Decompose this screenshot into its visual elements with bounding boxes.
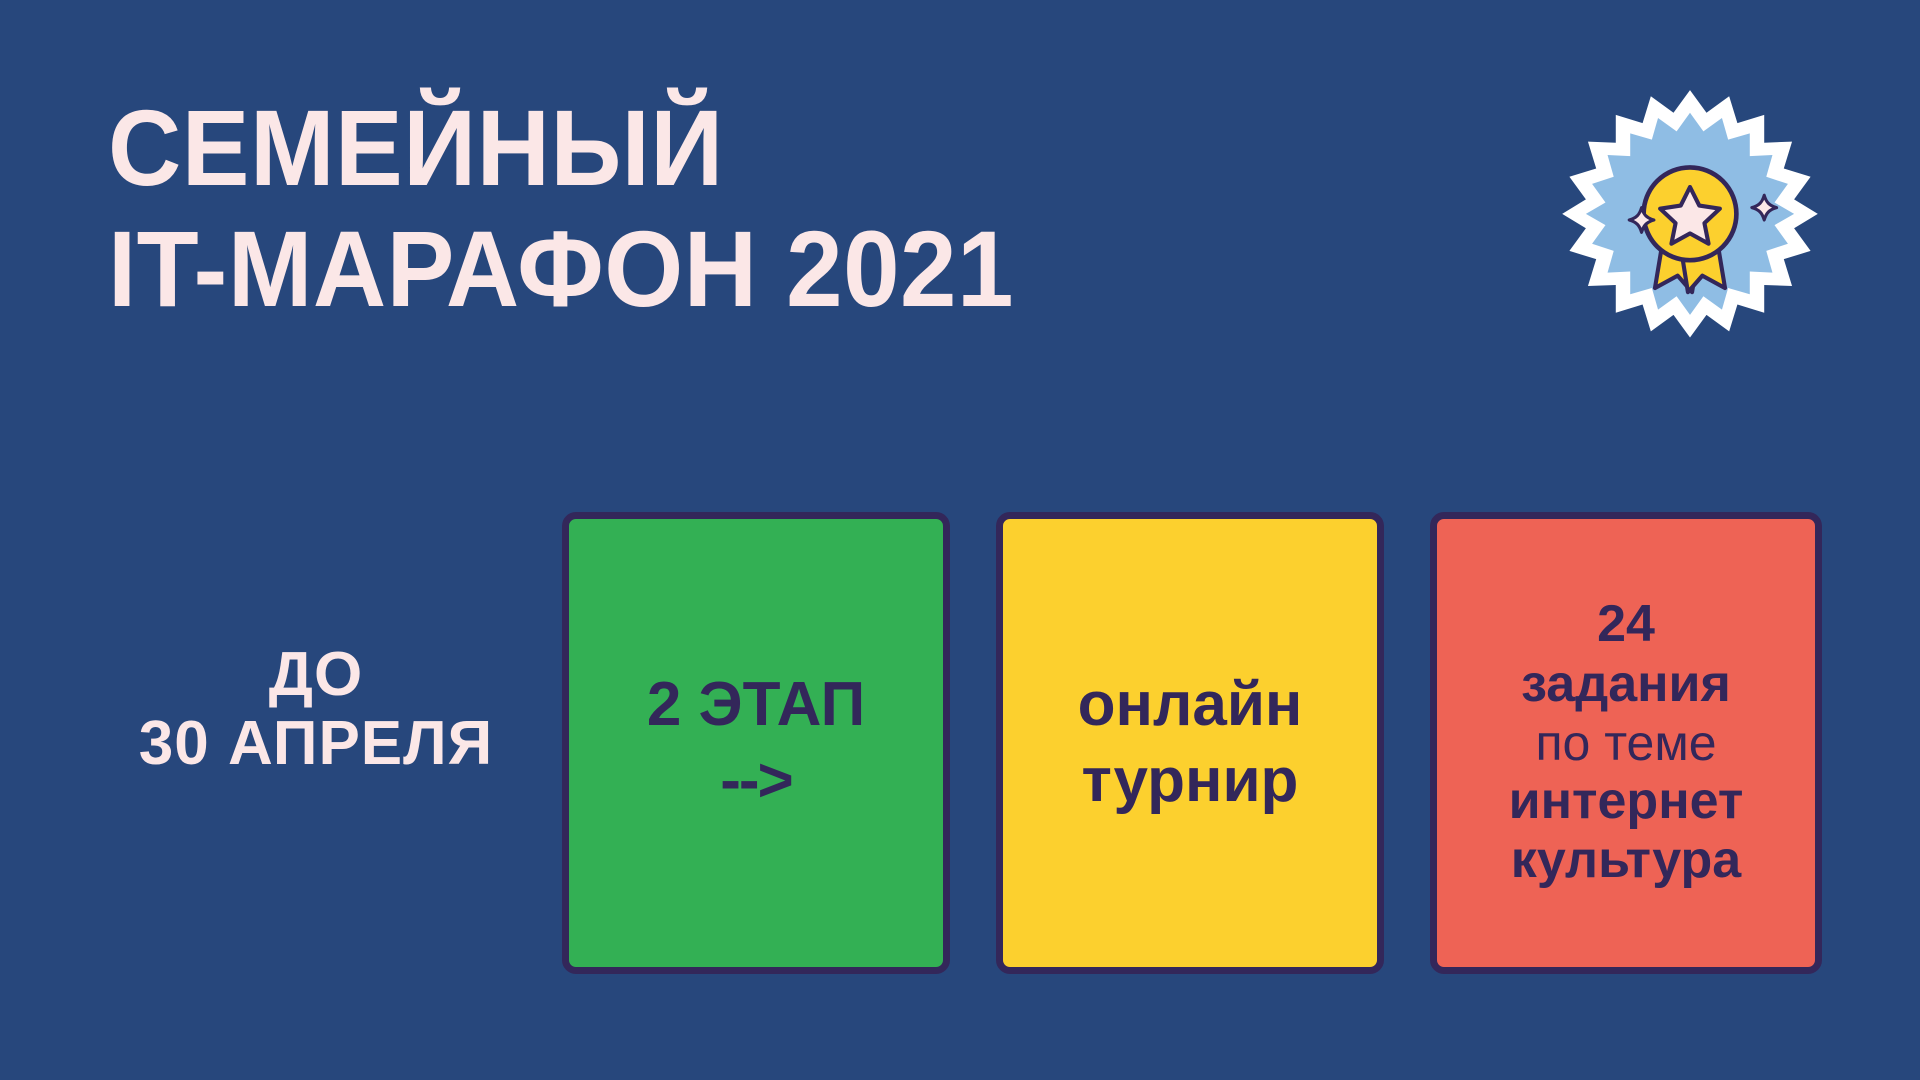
deadline-date: 30 АПРЕЛЯ xyxy=(96,709,536,778)
card-format[interactable]: онлайн турнир xyxy=(996,512,1384,974)
card-tasks-line-2: задания xyxy=(1521,655,1731,714)
card-tasks[interactable]: 24 задания по теме интернет культура xyxy=(1430,512,1822,974)
card-format-line-1: онлайн xyxy=(1078,667,1303,743)
card-stage[interactable]: 2 ЭТАП --> xyxy=(562,512,950,974)
card-stage-line-1: 2 ЭТАП xyxy=(647,667,865,743)
card-tasks-line-4: интернет xyxy=(1509,772,1744,831)
page-title: СЕМЕЙНЫЙ IT-МАРАФОН 2021 xyxy=(108,88,1288,330)
poster-canvas: СЕМЕЙНЫЙ IT-МАРАФОН 2021 ДО 30 АПРЕЛЯ xyxy=(0,0,1920,1080)
card-tasks-line-5: культура xyxy=(1511,831,1741,890)
info-cards-row: 2 ЭТАП --> онлайн турнир 24 задания по т… xyxy=(562,512,1822,974)
deadline-block: ДО 30 АПРЕЛЯ xyxy=(96,640,536,779)
title-line-1: СЕМЕЙНЫЙ xyxy=(108,88,1217,209)
card-format-line-2: турнир xyxy=(1082,743,1299,819)
arrow-right-icon: --> xyxy=(720,743,792,819)
card-tasks-count: 24 xyxy=(1597,595,1655,654)
award-medal-badge-icon xyxy=(1556,86,1824,354)
card-tasks-line-3: по теме xyxy=(1535,714,1716,772)
title-line-2: IT-МАРАФОН 2021 xyxy=(108,209,1217,330)
deadline-label: ДО xyxy=(96,640,536,709)
